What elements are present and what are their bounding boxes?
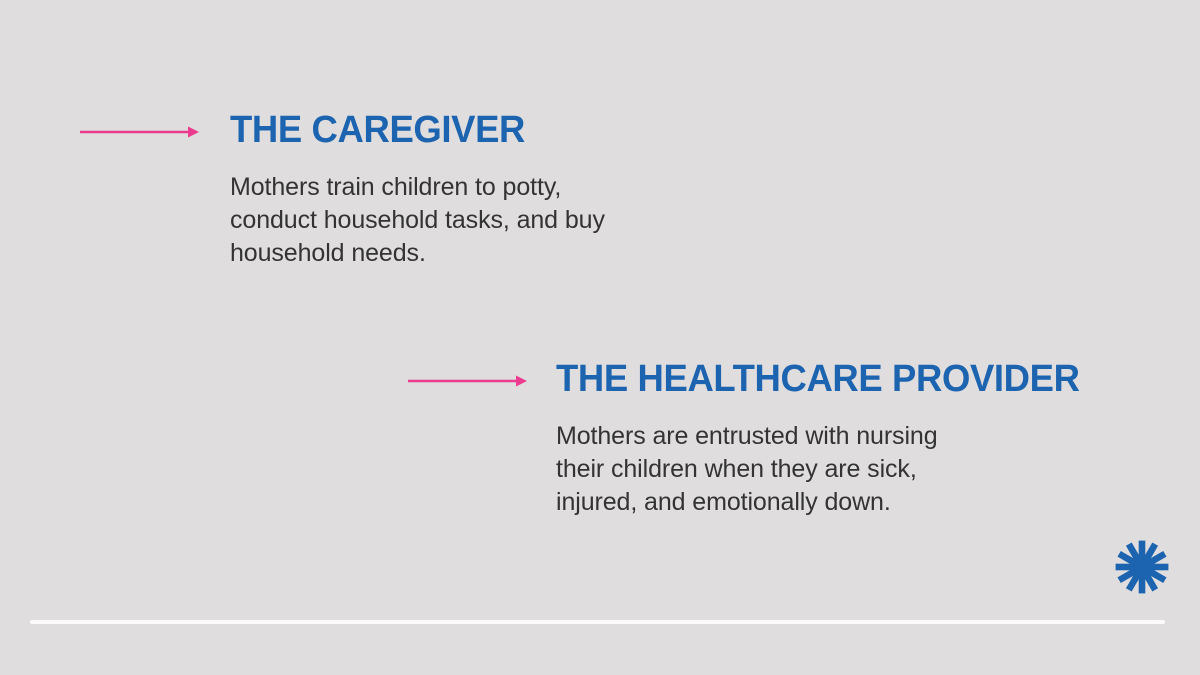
footer-divider bbox=[30, 620, 1165, 624]
arrow-right-icon bbox=[80, 110, 230, 140]
block-heading: THE CAREGIVER bbox=[230, 110, 590, 150]
slide-canvas: THE CAREGIVER Mothers train children to … bbox=[0, 0, 1200, 675]
asterisk-icon bbox=[1112, 537, 1172, 597]
block-heading: THE HEALTHCARE PROVIDER bbox=[556, 359, 1080, 399]
block-text-group: THE CAREGIVER Mothers train children to … bbox=[230, 110, 605, 270]
block-text-group: THE HEALTHCARE PROVIDER Mothers are entr… bbox=[556, 359, 1101, 519]
content-block-caregiver: THE CAREGIVER Mothers train children to … bbox=[80, 110, 605, 270]
content-block-healthcare-provider: THE HEALTHCARE PROVIDER Mothers are entr… bbox=[408, 359, 1101, 519]
arrow-right-icon bbox=[408, 359, 556, 389]
block-body: Mothers are entrusted with nursing their… bbox=[556, 399, 1101, 519]
block-body: Mothers train children to potty, conduct… bbox=[230, 150, 605, 270]
